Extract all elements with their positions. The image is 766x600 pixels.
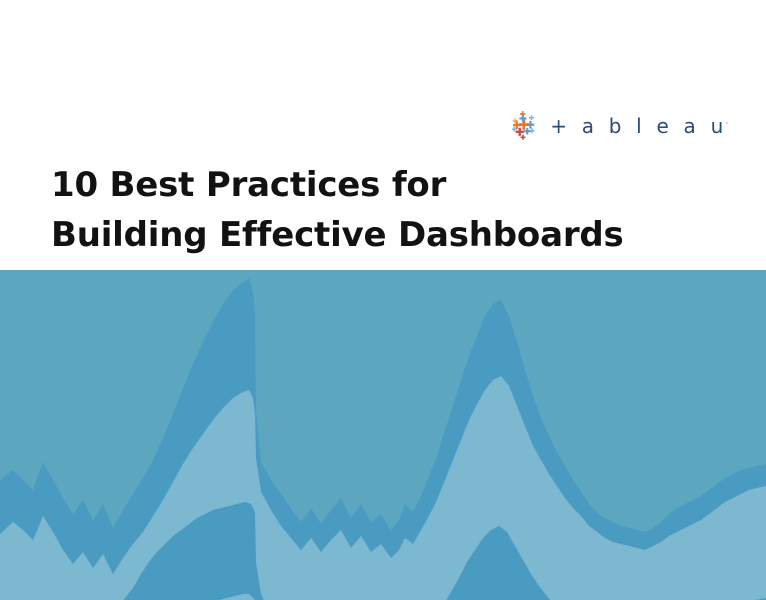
- cover-area-chart: [0, 270, 766, 600]
- page-title-line-1: 10 Best Practices for: [51, 160, 691, 210]
- whitepaper-cover: + a b l e a u · 10 Best Practices for Bu…: [0, 0, 766, 600]
- page-title: 10 Best Practices for Building Effective…: [51, 160, 691, 260]
- tableau-wordmark: + a b l e a u ·: [550, 116, 730, 136]
- tableau-plus-mark-icon: [507, 109, 541, 143]
- chart-render: [0, 270, 766, 600]
- page-title-line-2: Building Effective Dashboards: [51, 210, 691, 260]
- tableau-logo: + a b l e a u ·: [507, 108, 730, 144]
- tableau-registered-icon: ·: [725, 119, 728, 128]
- header-zone: + a b l e a u · 10 Best Practices for Bu…: [0, 0, 766, 270]
- tableau-wordmark-text: + a b l e a u: [550, 116, 727, 136]
- stacked-area-chart-svg: [0, 270, 766, 600]
